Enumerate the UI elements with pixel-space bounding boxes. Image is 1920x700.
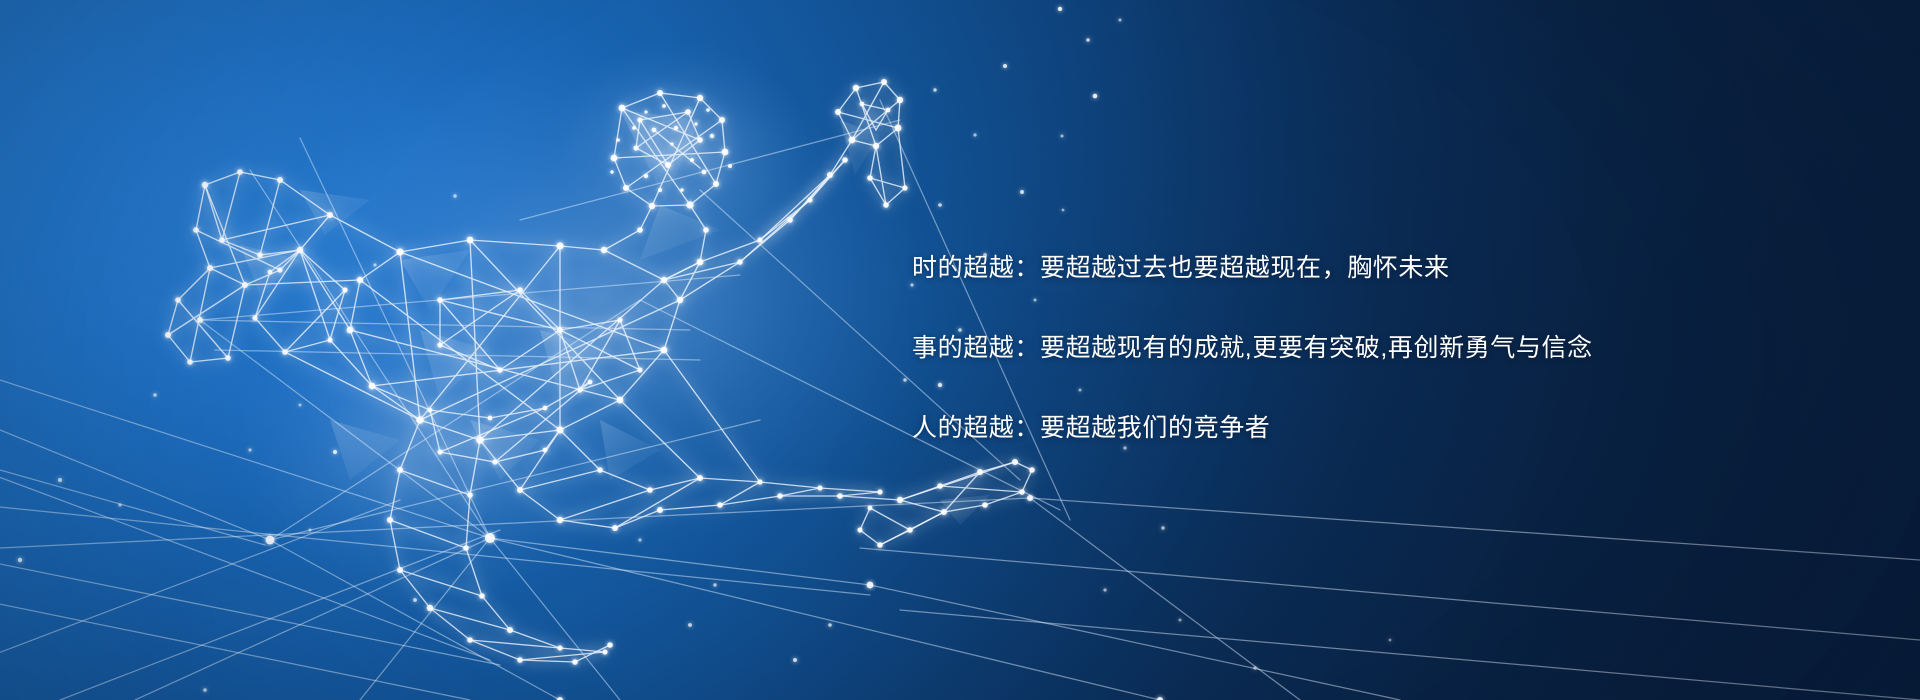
slogan-text-block: 时的超越：要超越过去也要超越现在，胸怀未来 事的超越：要超越现有的成就,更要有突… [912,228,1812,468]
slogan-line-time: 时的超越：要超越过去也要超越现在，胸怀未来 [912,228,1812,308]
slogan-line-matter: 事的超越：要超越现有的成就,更要有突破,再创新勇气与信念 [912,308,1812,388]
slogan-line-people: 人的超越：要超越我们的竞争者 [912,388,1812,468]
hero-banner: 时的超越：要超越过去也要超越现在，胸怀未来 事的超越：要超越现有的成就,更要有突… [0,0,1920,700]
